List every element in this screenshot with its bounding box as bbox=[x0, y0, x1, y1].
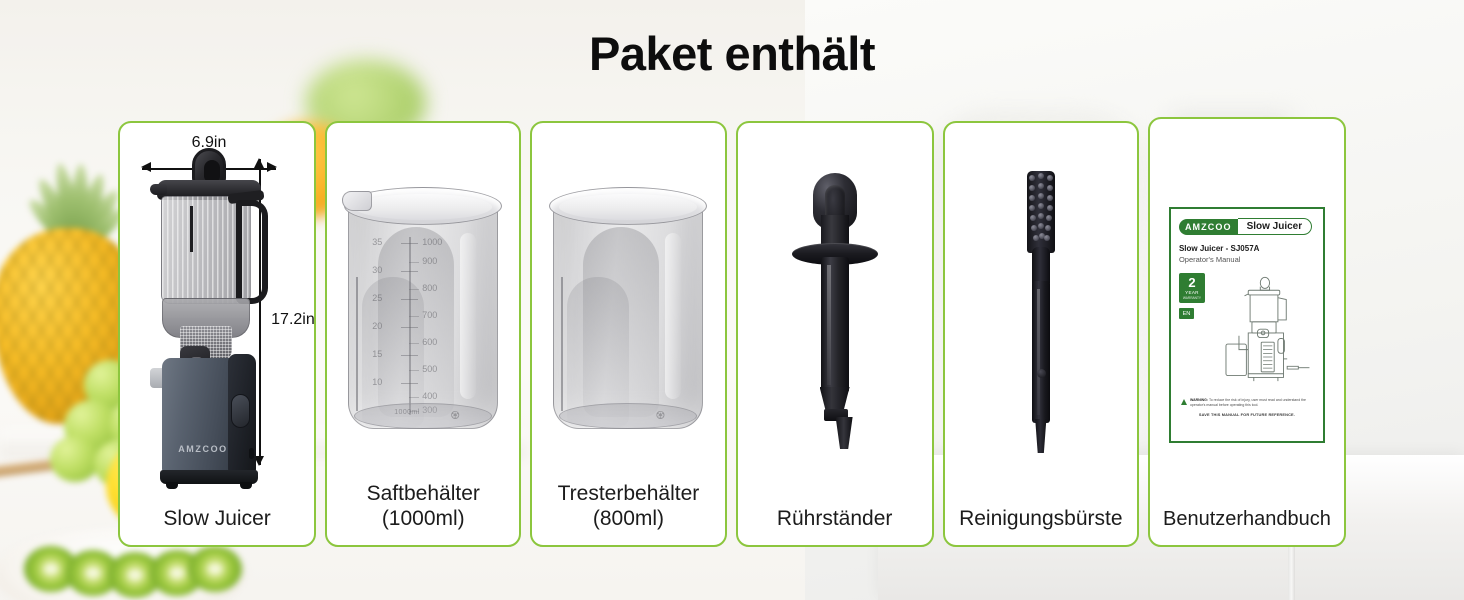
card-label-cleaning-brush: Reinigungsbürste bbox=[945, 507, 1137, 545]
manual-line-drawing bbox=[1213, 273, 1315, 391]
manual-warning-body: To reduce the risk of injury, user must … bbox=[1190, 398, 1306, 407]
power-button[interactable] bbox=[231, 394, 250, 428]
juicer-port bbox=[249, 448, 254, 459]
pulp-container-rim-inner bbox=[559, 194, 697, 220]
juice-container-seam bbox=[356, 277, 358, 411]
juicer-lid-tab bbox=[150, 184, 167, 195]
user-manual-illustration: AMZCOO Slow Juicer Slow Juicer - SJ057A … bbox=[1150, 119, 1344, 508]
manual-middle-section: 2 YEAR WARRANTY EN bbox=[1179, 273, 1315, 391]
juice-container-illustration: 35 1000 900 30 800 25 bbox=[327, 123, 519, 482]
scale-ml-label: 1000 bbox=[422, 237, 442, 247]
juicer-brand-label: AMZCOO bbox=[162, 444, 244, 454]
scale-oz-label: 20 bbox=[372, 321, 382, 331]
stirrer-illustration bbox=[738, 123, 932, 507]
card-label-juice-container: Saftbehälter (1000ml) bbox=[327, 482, 519, 545]
manual-cover: AMZCOO Slow Juicer Slow Juicer - SJ057A … bbox=[1169, 207, 1325, 443]
juicer-foot-pad-left bbox=[166, 482, 178, 489]
manual-product-name: Slow Juicer bbox=[1238, 218, 1313, 235]
scale-oz-label: 15 bbox=[372, 349, 382, 359]
warranty-sublabel: WARRANTY bbox=[1183, 296, 1201, 300]
manual-warning-text: WARNING: To reduce the risk of injury, u… bbox=[1190, 398, 1313, 408]
product-card-slow-juicer[interactable]: 6.9in 17.2in bbox=[118, 121, 316, 547]
stirrer-shaft-highlight bbox=[827, 265, 831, 385]
juice-container-spout bbox=[342, 191, 372, 211]
manual-subtitle: Operator's Manual bbox=[1179, 255, 1315, 265]
card-label-user-manual: Benutzerhandbuch bbox=[1150, 508, 1344, 545]
stirrer-tool bbox=[792, 173, 878, 448]
warning-triangle-icon bbox=[1181, 399, 1187, 405]
height-dimension-label: 17.2in bbox=[271, 311, 315, 329]
brush-handle-highlight bbox=[1037, 289, 1040, 415]
brush-handle bbox=[1032, 281, 1050, 423]
cleaning-brush-illustration bbox=[945, 123, 1137, 507]
product-card-stirrer[interactable]: Rührständer bbox=[736, 121, 934, 547]
scale-ml-label: 900 bbox=[422, 256, 437, 266]
juice-container-base bbox=[354, 403, 492, 429]
product-card-cleaning-brush[interactable]: Reinigungsbürste bbox=[943, 121, 1139, 547]
scale-ml-label: 700 bbox=[422, 310, 437, 320]
brush-bristles bbox=[1029, 173, 1053, 249]
manual-save-note: SAVE THIS MANUAL FOR FUTURE REFERENCE. bbox=[1179, 412, 1315, 417]
scale-rail bbox=[409, 237, 410, 415]
card-label-stirrer: Rührständer bbox=[738, 507, 932, 545]
manual-badges: 2 YEAR WARRANTY EN bbox=[1179, 273, 1207, 391]
package-contents-row: 6.9in 17.2in bbox=[118, 121, 1346, 547]
scale-ml-label: 800 bbox=[422, 283, 437, 293]
brush-hang-hole bbox=[1037, 369, 1046, 378]
page-title: Paket enthält bbox=[0, 26, 1464, 81]
product-card-user-manual[interactable]: AMZCOO Slow Juicer Slow Juicer - SJ057A … bbox=[1148, 117, 1346, 547]
warranty-years: 2 bbox=[1188, 276, 1195, 289]
product-card-juice-container[interactable]: 35 1000 900 30 800 25 bbox=[325, 121, 521, 547]
manual-warning-row: WARNING: To reduce the risk of injury, u… bbox=[1179, 398, 1315, 408]
scale-ml-label: 600 bbox=[422, 337, 437, 347]
stirrer-shaft bbox=[821, 257, 849, 393]
scale-ml-label: 500 bbox=[422, 364, 437, 374]
scale-ml-label: 400 bbox=[422, 391, 437, 401]
manual-brand-badge: AMZCOO bbox=[1179, 219, 1238, 235]
card-label-pulp-container: Tresterbehälter (800ml) bbox=[532, 482, 724, 545]
card-label-slow-juicer: Slow Juicer bbox=[120, 507, 314, 545]
recycle-icon: ♼ bbox=[450, 409, 460, 422]
juicer-foot-pad-right bbox=[240, 482, 252, 489]
brush-scraper-tip bbox=[1034, 419, 1048, 453]
slow-juicer-illustration: 6.9in 17.2in bbox=[120, 123, 314, 507]
manual-model-line: Slow Juicer - SJ057A bbox=[1179, 244, 1315, 254]
pulp-container-illustration: ♼ bbox=[532, 123, 724, 482]
scale-oz-label: 10 bbox=[372, 377, 382, 387]
pulp-container: ♼ bbox=[547, 181, 709, 433]
recycle-icon: ♼ bbox=[655, 409, 665, 422]
warranty-unit: YEAR bbox=[1185, 290, 1199, 295]
scale-oz-label: 30 bbox=[372, 265, 382, 275]
manual-warning-lead: WARNING: bbox=[1190, 398, 1208, 402]
measurement-scale: 35 1000 900 30 800 25 bbox=[368, 237, 466, 415]
scale-oz-label: 35 bbox=[372, 237, 382, 247]
stirrer-leg bbox=[836, 417, 853, 449]
language-badge: EN bbox=[1179, 308, 1194, 319]
scale-oz-label: 25 bbox=[372, 293, 382, 303]
juice-container: 35 1000 900 30 800 25 bbox=[342, 181, 504, 433]
juice-container-rim-inner bbox=[354, 194, 492, 220]
cleaning-brush-tool bbox=[1020, 171, 1062, 453]
juice-container-capacity-mark: 1000ml bbox=[394, 409, 419, 416]
juicer-device: AMZCOO bbox=[150, 148, 268, 488]
pulp-container-highlight bbox=[665, 233, 681, 399]
warranty-badge: 2 YEAR WARRANTY bbox=[1179, 273, 1205, 303]
product-card-pulp-container[interactable]: ♼ Tresterbehälter (800ml) bbox=[530, 121, 726, 547]
juicer-handle bbox=[236, 200, 268, 304]
juicer-line-art-icon bbox=[1213, 273, 1315, 391]
pulp-container-base bbox=[559, 403, 697, 429]
pulp-container-seam bbox=[561, 277, 563, 411]
juicer-hopper-auger bbox=[190, 206, 193, 252]
manual-logo-row: AMZCOO Slow Juicer bbox=[1179, 218, 1315, 235]
